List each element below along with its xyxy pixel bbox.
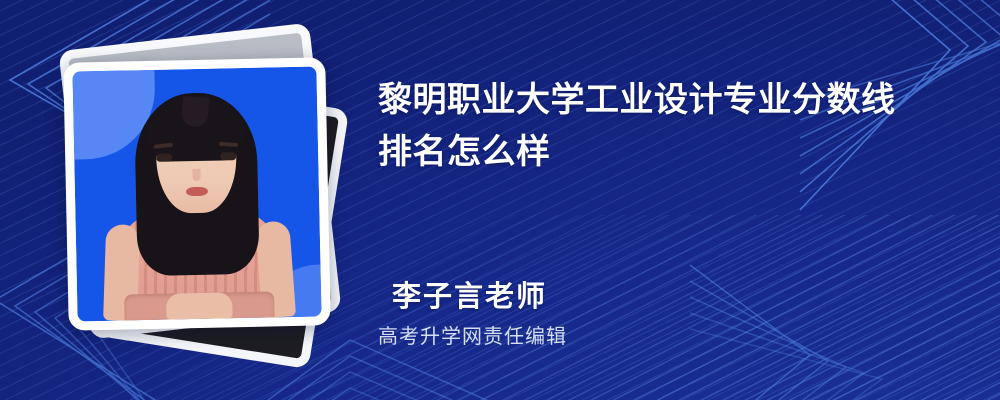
photo-card-stack (52, 32, 352, 362)
portrait-figure (95, 85, 300, 321)
text-column: 黎明职业大学工业设计专业分数线 排名怎么样 李子言老师 高考升学网责任编辑 (378, 0, 978, 400)
author-name: 李子言老师 (392, 273, 547, 315)
portrait-eye-right (220, 152, 236, 160)
photo-card-front (63, 57, 331, 330)
page-title: 黎明职业大学工业设计专业分数线 排名怎么样 (378, 74, 958, 178)
author-portrait-photo (72, 66, 321, 321)
portrait-mouth (186, 187, 208, 196)
portrait-nose (192, 169, 200, 181)
article-cover-banner: 黎明职业大学工业设计专业分数线 排名怎么样 李子言老师 高考升学网责任编辑 (0, 0, 1000, 400)
author-role: 高考升学网责任编辑 (378, 320, 567, 349)
page-title-line-1: 黎明职业大学工业设计专业分数线 (378, 81, 896, 119)
portrait-hands (166, 292, 233, 319)
page-title-line-2: 排名怎么样 (378, 133, 551, 171)
portrait-eye-left (156, 154, 172, 162)
